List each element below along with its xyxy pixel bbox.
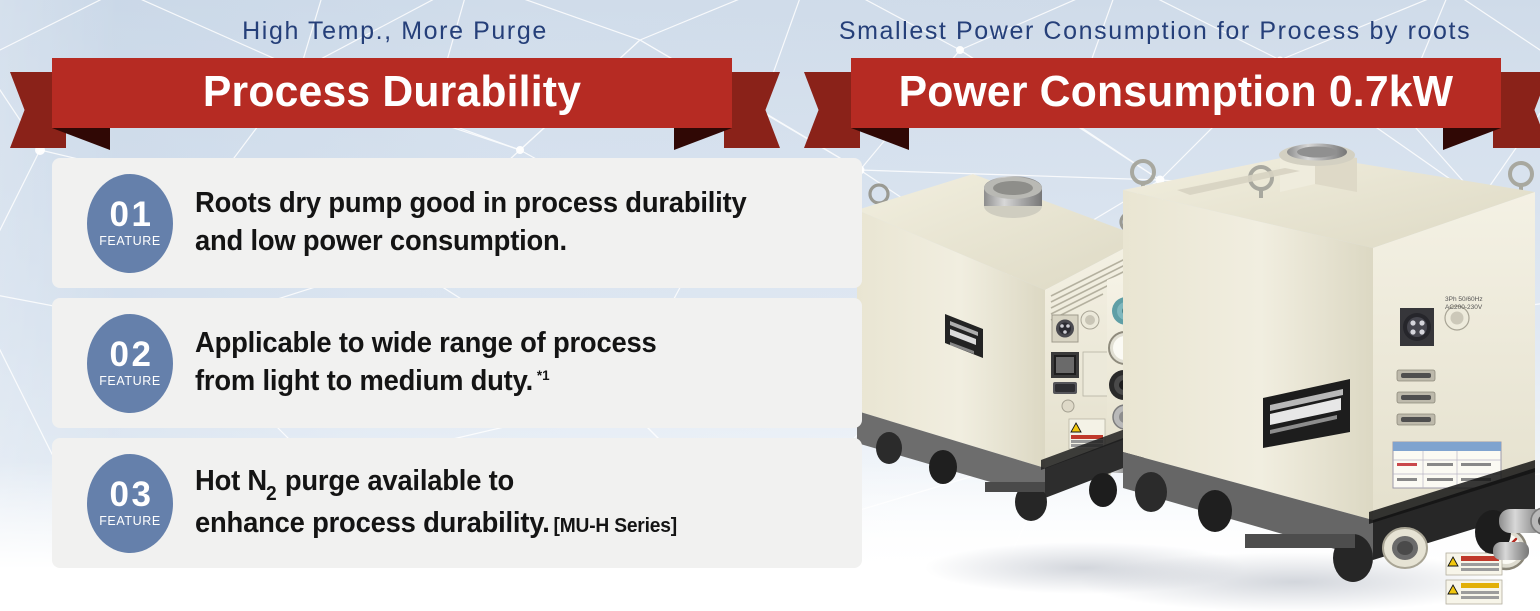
feature-text-line1: Applicable to wide range of process [195,325,820,363]
feature-card-02: 02 FEATURE Applicable to wide range of p… [52,298,862,428]
banner-right-ribbon: Power Consumption 0.7kW [816,58,1535,128]
svg-text:AC200-230V: AC200-230V [1445,304,1483,311]
feature-text-subscript: 2 [266,483,277,505]
feature-card-list: 01 FEATURE Roots dry pump good in proces… [52,158,862,578]
feature-text-line1: Roots dry pump good in process durabilit… [195,185,820,223]
feature-card-body: Applicable to wide range of process from… [195,325,862,401]
feature-badge-number: 02 [107,338,154,371]
feature-text-line2: and low power consumption. [195,223,820,261]
banner-left-title: Process Durability [203,70,581,114]
banner-right-title: Power Consumption 0.7kW [899,70,1454,114]
feature-series-tag: [MU-H Series] [554,515,677,537]
svg-text:3Ph 50/60Hz: 3Ph 50/60Hz [1445,296,1483,303]
feature-text-line2: enhance process durability.[MU-H Series] [195,505,820,543]
banner-left-kicker: High Temp., More Purge [0,17,790,46]
feature-card-01: 01 FEATURE Roots dry pump good in proces… [52,158,862,288]
feature-badge-01: 01 FEATURE [87,174,173,273]
feature-badge-number: 03 [107,478,154,511]
feature-text-line2-main: from light to medium duty. [195,365,533,397]
product-photo-roots-pumps: 3Ph 50/60Hz AC200-230V [845,130,1540,611]
feature-badge-03: 03 FEATURE [87,454,173,553]
ribbon-band: Power Consumption 0.7kW [851,58,1501,128]
feature-text-line1-post: purge available to [277,465,514,497]
pump-unit-left [857,174,1167,521]
feature-card-03: 03 FEATURE Hot N2 purge available to enh… [52,438,862,568]
feature-badge-02: 02 FEATURE [87,314,173,413]
feature-footnote-marker: *1 [537,367,550,383]
feature-text-line1: Hot N2 purge available to [195,463,820,504]
banner-stage: 3Ph 50/60Hz AC200-230V [0,0,1540,611]
feature-text-line2-main: enhance process durability. [195,507,550,539]
feature-text-line2: from light to medium duty.*1 [195,363,820,401]
feature-badge-label: FEATURE [99,234,161,248]
feature-card-body: Hot N2 purge available to enhance proces… [195,463,862,542]
feature-badge-number: 01 [107,198,154,231]
banner-left-ribbon: Process Durability [22,58,766,128]
ribbon-band: Process Durability [52,58,732,128]
feature-card-body: Roots dry pump good in process durabilit… [195,185,862,261]
banner-right-kicker: Smallest Power Consumption for Process b… [770,17,1540,46]
feature-badge-label: FEATURE [99,374,161,388]
feature-text-line1-pre: Hot N [195,465,267,497]
feature-badge-label: FEATURE [99,514,161,528]
